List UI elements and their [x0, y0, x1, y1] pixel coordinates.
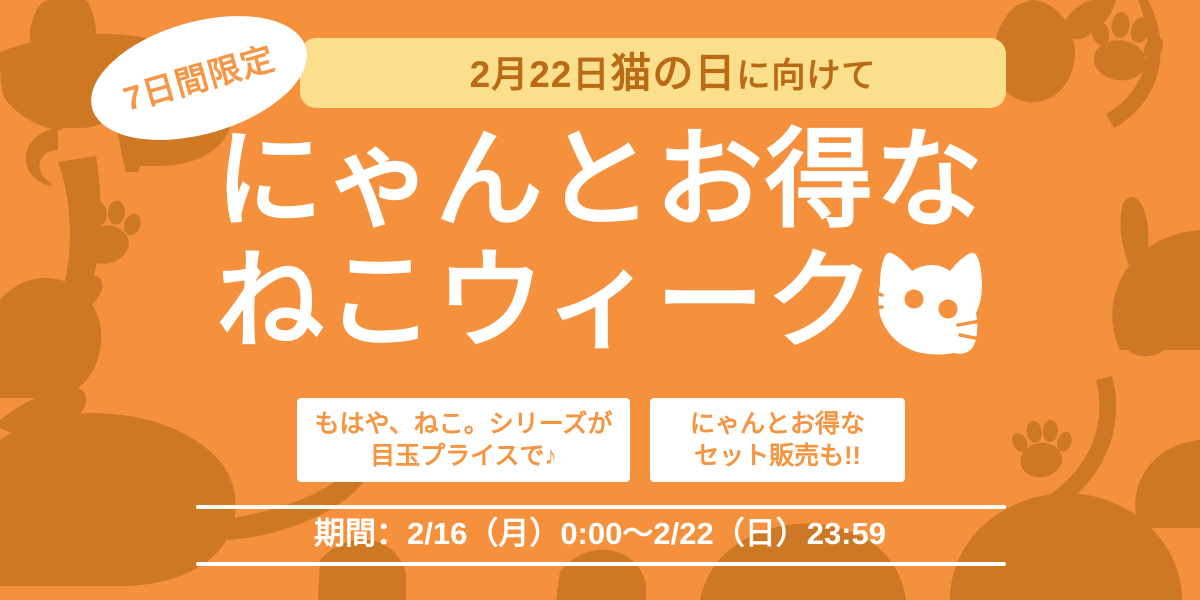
header-text: 2月22日猫の日に向けて	[470, 53, 877, 94]
info-box-set-line-2: セット販売も!!	[694, 440, 861, 473]
header-keyword: 猫の日	[610, 50, 736, 96]
info-box-set: にゃんとお得な セット販売も!!	[650, 398, 905, 482]
info-box-set-line-1: にゃんとお得な	[690, 408, 865, 441]
header-bar: 2月22日猫の日に向けて	[300, 38, 1006, 108]
cat-face-icon	[872, 251, 984, 355]
period-rule-bottom	[196, 562, 1006, 566]
info-box-sale-line-2: 目玉プライスで♪	[370, 440, 557, 473]
info-box-sale: もはや、ねこ。シリーズが 目玉プライスで♪	[297, 398, 630, 482]
main-title-line-2-wrap: ねこウィーク	[0, 241, 1200, 362]
info-box-sale-line-1: もはや、ねこ。シリーズが	[314, 408, 612, 441]
info-box-group: もはや、ねこ。シリーズが 目玉プライスで♪ にゃんとお得な セット販売も!!	[297, 398, 905, 482]
main-title-line-2: ねこウィーク	[216, 240, 876, 361]
header-date: 2月22日	[470, 54, 611, 95]
main-title: にゃんとお得な ねこウィーク	[0, 120, 1200, 362]
limited-period-badge-label: 7日間限定	[120, 41, 278, 116]
period-text: 期間：2/16（月）0:00〜2/22（日）23:59	[0, 510, 1200, 558]
header-suffix: に向けて	[736, 57, 876, 95]
period-rule-top	[196, 505, 1006, 509]
promo-banner: 2月22日猫の日に向けて 7日間限定 にゃんとお得な ねこウィーク もはや、ねこ…	[0, 0, 1200, 600]
